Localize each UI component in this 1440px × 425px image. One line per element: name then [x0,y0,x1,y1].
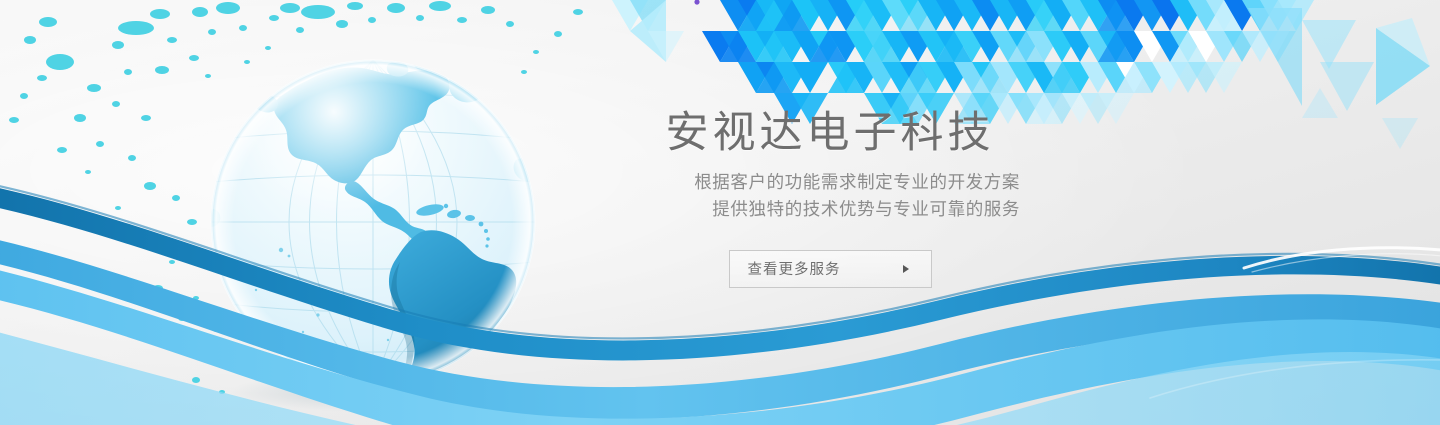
subtitle-line-1: 根据客户的功能需求制定专业的开发方案 [640,169,1020,196]
cta-wrapper: 查看更多服务 [640,250,1020,288]
subtitle-line-2: 提供独特的技术优势与专业可靠的服务 [640,196,1020,223]
triangle-right-icon [903,265,909,273]
cta-label: 查看更多服务 [748,258,841,279]
view-more-services-button[interactable]: 查看更多服务 [729,250,932,288]
hero-copy-block: 安视达电子科技 根据客户的功能需求制定专业的开发方案 提供独特的技术优势与专业可… [640,108,1020,288]
page-title: 安视达电子科技 [640,108,1020,159]
hero-banner: 安视达电子科技 根据客户的功能需求制定专业的开发方案 提供独特的技术优势与专业可… [0,0,1440,425]
